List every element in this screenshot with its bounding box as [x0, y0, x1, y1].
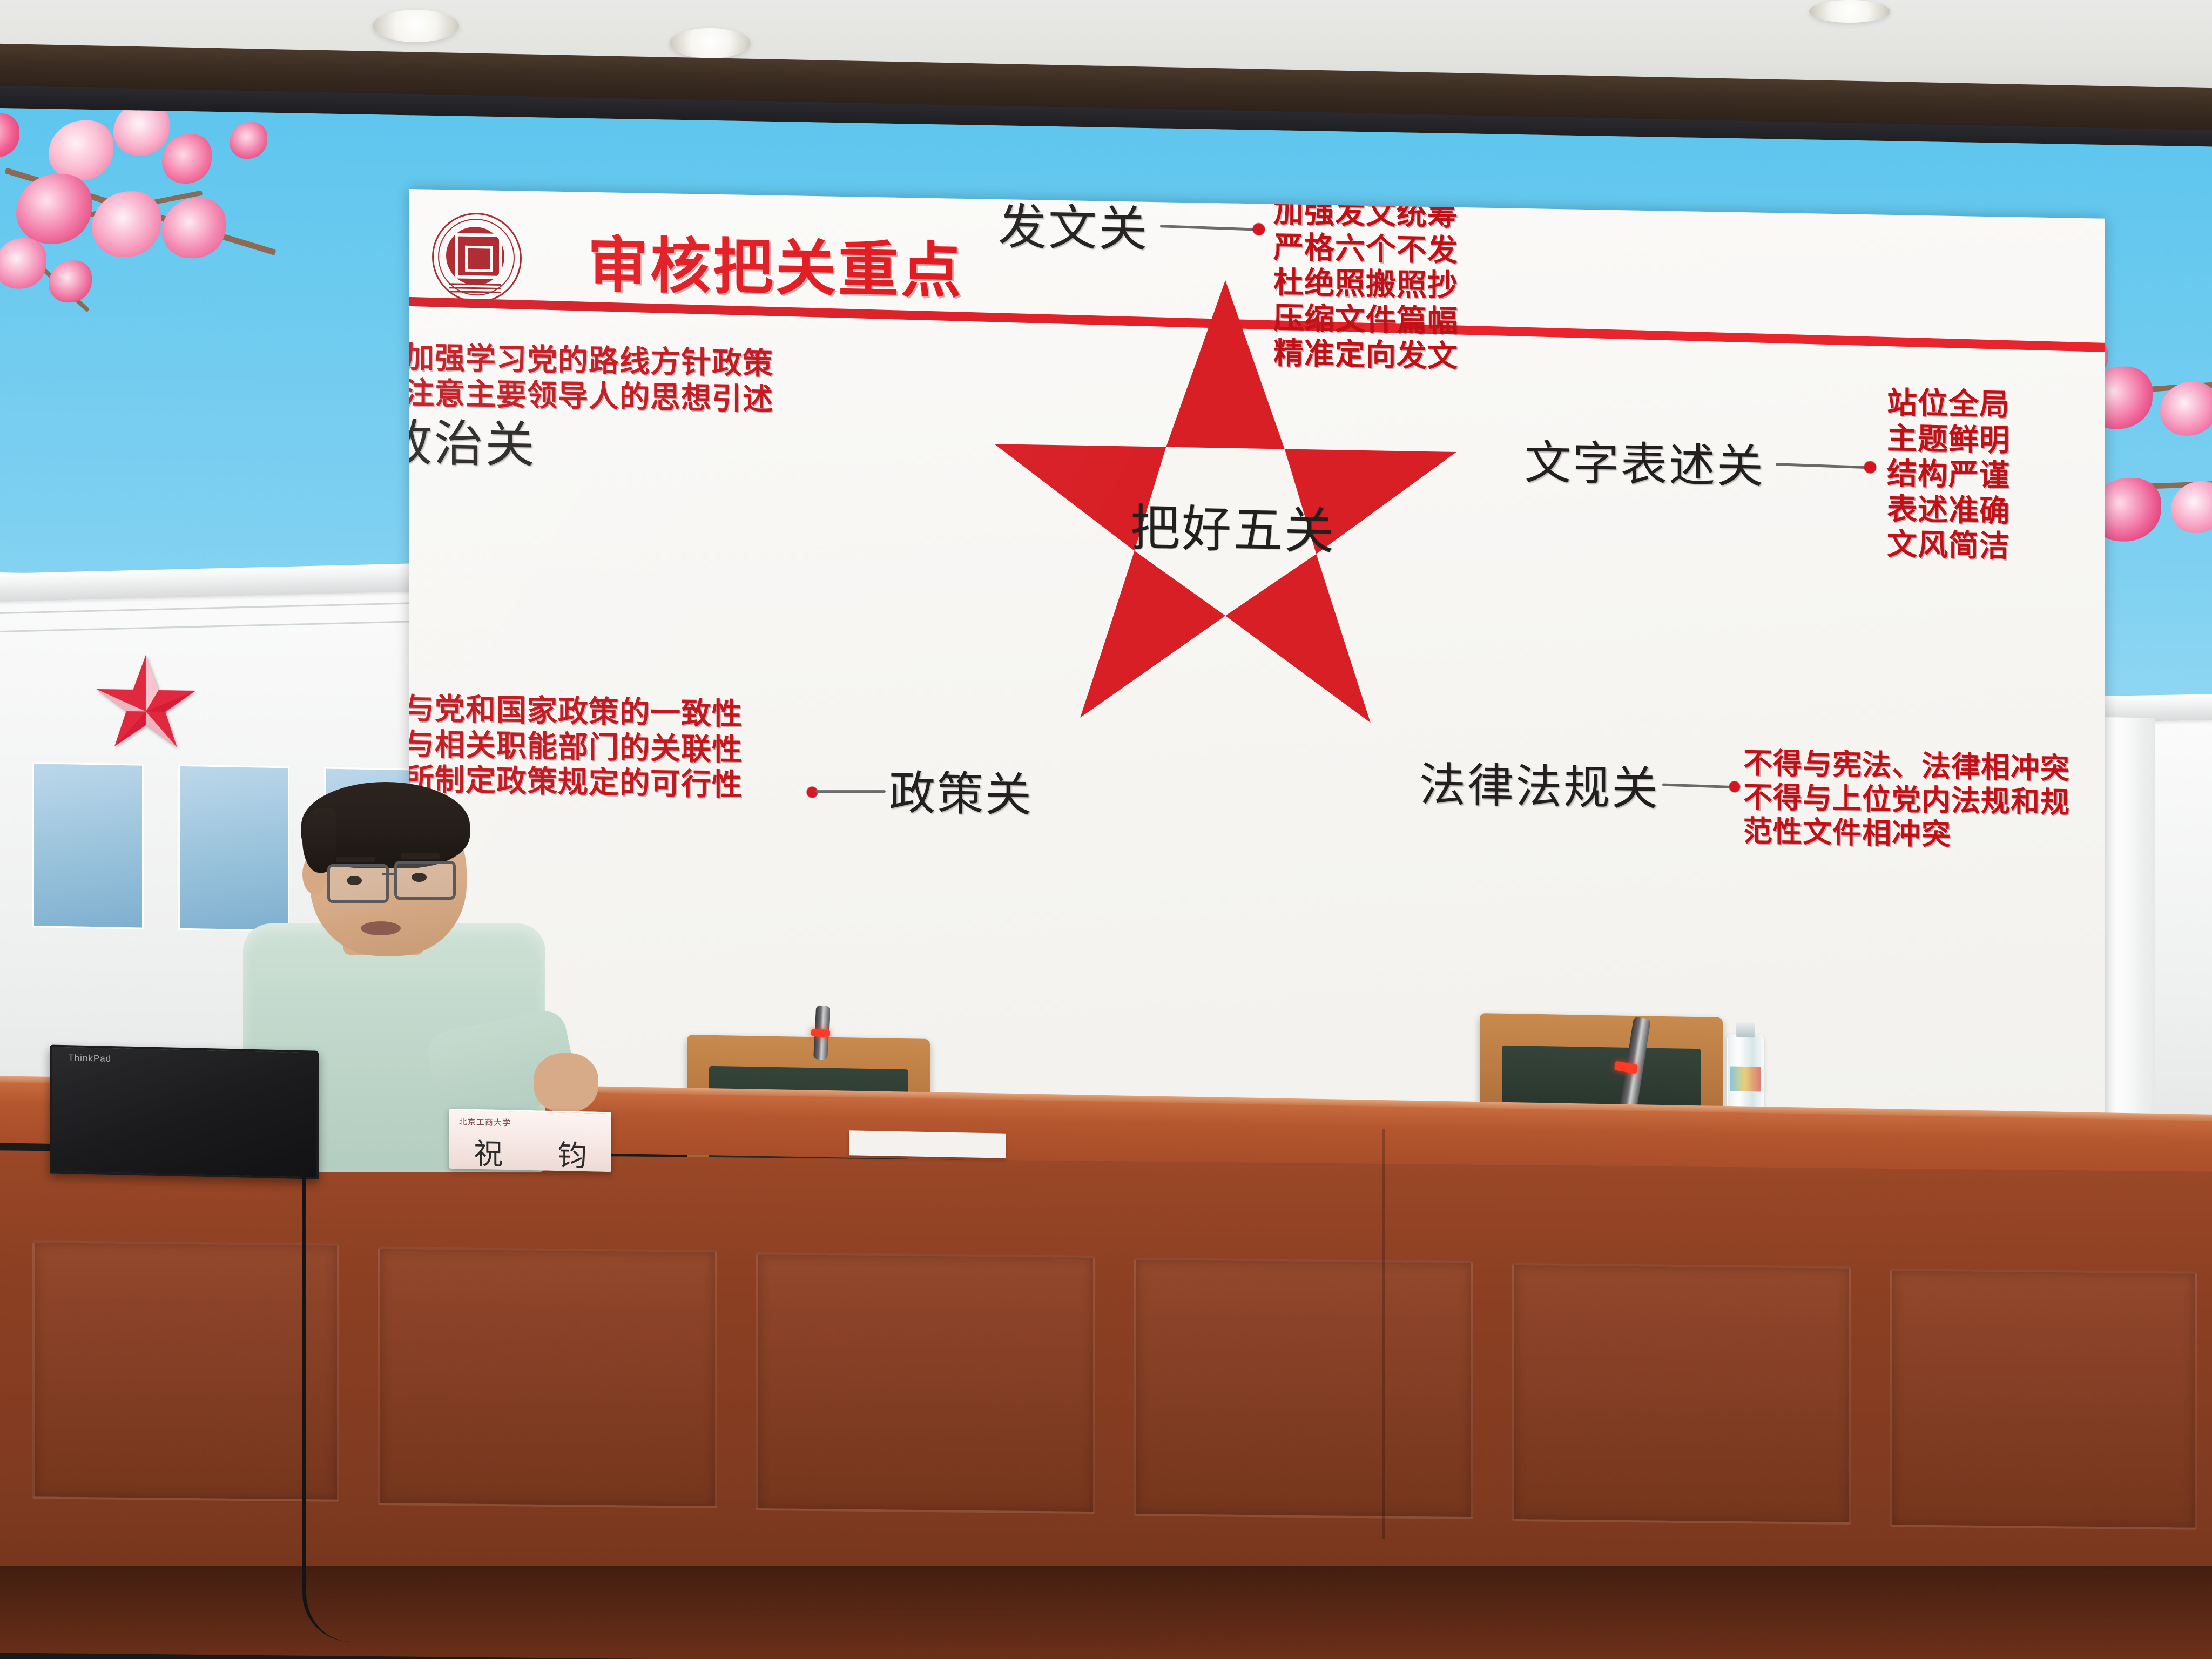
- ceiling-light: [670, 28, 751, 58]
- laptop[interactable]: ThinkPad: [50, 1044, 314, 1175]
- slide-title: 审核把关重点: [588, 216, 963, 310]
- desk-panel-moulding: [1134, 1258, 1473, 1519]
- ceiling-light: [373, 10, 459, 42]
- presenter-mouth: [361, 921, 401, 935]
- nameplate-name: 祝 钧: [449, 1129, 611, 1175]
- red-star-wall-emblem: [92, 650, 200, 759]
- gate-label-zhengzhi: 政治关: [409, 402, 536, 477]
- gate-details-falv-fagui: 不得与宪法、法律相冲突 不得与上位党内法规和规 范性文件相冲突: [1743, 746, 2070, 854]
- desk-panel-moulding: [1512, 1263, 1851, 1525]
- detail-line: 范性文件相冲突: [1743, 814, 2070, 854]
- presenter-hair-side: [302, 808, 336, 873]
- paper-sheet: [849, 1130, 1006, 1158]
- detail-line: 结构严谨: [1887, 456, 2010, 494]
- presenter-eye: [347, 876, 362, 885]
- desk-seam: [1382, 1129, 1385, 1539]
- detail-line: 杜绝照搬照抄: [1273, 265, 1458, 304]
- detail-line: 表述准确: [1887, 491, 2010, 529]
- connector-dot-fawen: [1253, 223, 1265, 235]
- detail-line: 压缩文件篇幅: [1273, 300, 1458, 339]
- laptop-power-cable: [302, 1166, 371, 1642]
- connector-dot-falv: [1729, 781, 1740, 792]
- laptop-brand-label: ThinkPad: [68, 1053, 111, 1064]
- projection-slide: 审核把关重点 把好五关 发文关 加强发文统筹 严格六个不发 杜绝照搬照抄 压缩文…: [409, 189, 2105, 1126]
- detail-line: 文风简洁: [1887, 527, 2010, 564]
- desk-panel-moulding: [1890, 1269, 2197, 1529]
- detail-line: 与党和国家政策的一致性: [409, 691, 743, 732]
- presenter-eyebrow: [336, 857, 375, 862]
- detail-line: 不得与上位党内法规和规: [1743, 780, 2070, 820]
- building-window: [32, 762, 144, 929]
- university-logo: [432, 212, 518, 300]
- plum-blossom-branch-left: [0, 108, 383, 341]
- gate-label-falv-fagui: 法律法规关: [1419, 747, 1660, 819]
- presenter-eyebrow: [401, 853, 440, 859]
- detail-line: 精准定向发文: [1273, 336, 1458, 374]
- connector-dot-wenzi: [1864, 461, 1876, 473]
- microphone[interactable]: [794, 1005, 848, 1071]
- gate-details-fawen: 加强发文统筹 严格六个不发 杜绝照搬照抄 压缩文件篇幅 精准定向发文: [1273, 194, 1458, 375]
- star-center-label: 把好五关: [1130, 488, 1336, 563]
- detail-line: 不得与宪法、法律相冲突: [1743, 746, 2070, 786]
- detail-line: 严格六个不发: [1273, 230, 1458, 268]
- presenter-eye: [412, 873, 427, 882]
- presenter-eyeglasses-right: [394, 861, 456, 900]
- detail-line: 加强学习党的路线方针政策: [409, 340, 773, 382]
- screenshot-root: 审核把关重点 把好五关 发文关 加强发文统筹 严格六个不发 杜绝照搬照抄 压缩文…: [0, 0, 2212, 1659]
- desk-panel-moulding: [756, 1252, 1095, 1514]
- gate-details-wenzi-biaoshu: 站位全局 主题鲜明 结构严谨 表述准确 文风简洁: [1887, 386, 2010, 565]
- detail-line: 主题鲜明: [1887, 421, 2010, 458]
- desk-panel-moulding: [378, 1247, 717, 1508]
- presenter-eyeglasses-bridge: [382, 873, 396, 875]
- nameplate: 北京工商大学 祝 钧: [449, 1109, 611, 1172]
- connector-line-zhengce: [815, 790, 886, 793]
- ceiling-light: [1809, 0, 1890, 23]
- gate-label-wenzi-biaoshu: 文字表述关: [1525, 424, 1765, 496]
- nameplate-org-mark: 北京工商大学: [459, 1116, 511, 1128]
- desk-panel-moulding: [32, 1240, 339, 1501]
- presenter-hand: [534, 1053, 598, 1112]
- detail-line: 站位全局: [1887, 386, 2010, 423]
- gate-label-zhengce: 政策关: [889, 755, 1033, 825]
